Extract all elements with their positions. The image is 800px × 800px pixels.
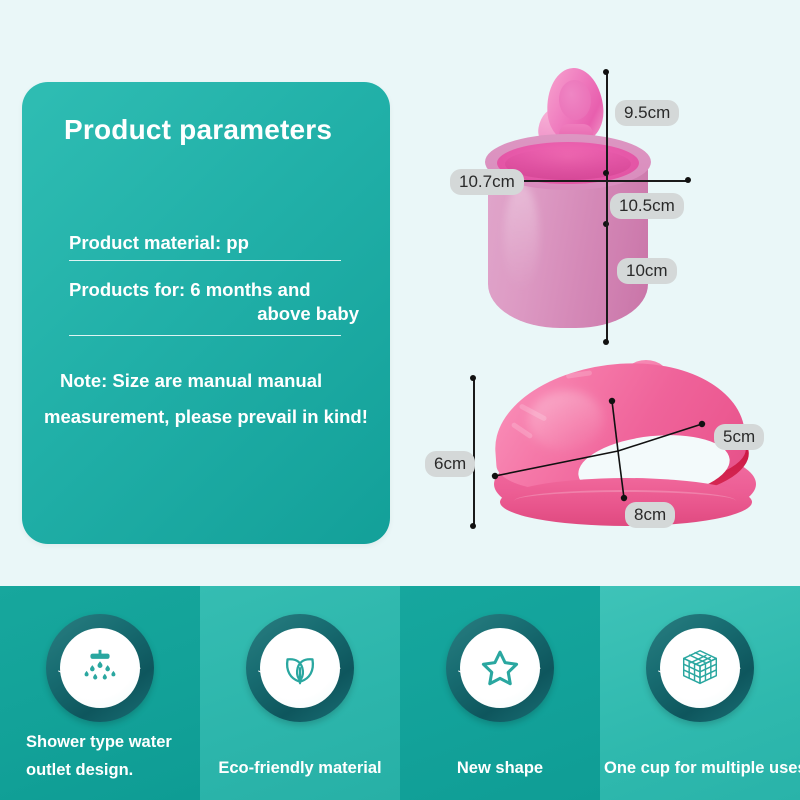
- dimension-label-cap-height: 6cm: [425, 451, 475, 477]
- badge-baby-health-protection: BABY HEALTH PROTECTION: [646, 614, 754, 722]
- feature-caption-line: One cup for multiple uses: [604, 754, 796, 782]
- measure-line-rim-diameter: [519, 180, 688, 182]
- measure-dot: [603, 69, 609, 75]
- feature-caption-line: New shape: [404, 754, 596, 782]
- leaf-icon: [277, 645, 323, 691]
- rubiks-cube-icon: [677, 645, 723, 691]
- badge-inner-disc: [60, 628, 140, 708]
- dimension-label-handle-height: 9.5cm: [615, 100, 679, 126]
- feature-caption-multiuse: One cup for multiple uses: [600, 754, 800, 782]
- cup-interior-shadow: [505, 148, 631, 180]
- measure-line-handle-height: [606, 72, 608, 174]
- badge-inner-disc: [460, 628, 540, 708]
- feature-panel-shower[interactable]: BABY HEALTH PROTECTION: [0, 586, 200, 800]
- feature-panel-shape[interactable]: BABY HEALTH PROTECTION New shape: [400, 586, 600, 800]
- measure-dot: [603, 339, 609, 345]
- infographic-canvas: Product parameters Product material: pp …: [0, 0, 800, 800]
- measure-dot: [685, 177, 691, 183]
- param-material-text: Product material: pp: [69, 232, 249, 254]
- feature-caption-shower: Shower type water outlet design.: [0, 728, 200, 784]
- dimension-label-cap-depth: 5cm: [714, 424, 764, 450]
- shower-head-icon: [77, 645, 123, 691]
- dimension-label-inner-diameter: 10.5cm: [610, 193, 684, 219]
- param-note-text: Note: Size are manual manual measurement…: [44, 363, 384, 435]
- feature-caption-shape: New shape: [400, 754, 600, 782]
- page-title: Product parameters: [64, 114, 332, 146]
- dimension-label-body-height: 10cm: [617, 258, 677, 284]
- feature-caption-line: Eco-friendly material: [204, 754, 396, 782]
- feature-band: BABY HEALTH PROTECTION: [0, 586, 800, 800]
- feature-panel-eco[interactable]: BABY HEALTH PROTECTION Eco-friendly mate…: [200, 586, 400, 800]
- measure-line-body-height: [606, 221, 608, 342]
- param-note-line-1: Note: Size are manual manual: [44, 363, 384, 399]
- feature-caption-line: outlet design.: [26, 756, 196, 784]
- feature-panel-multiuse[interactable]: BABY HEALTH PROTECTION: [600, 586, 800, 800]
- param-note-line-2: measurement, please prevail in kind!: [44, 399, 384, 435]
- badge-inner-disc: [260, 628, 340, 708]
- badge-baby-health-protection: BABY HEALTH PROTECTION: [446, 614, 554, 722]
- badge-baby-health-protection: BABY HEALTH PROTECTION: [46, 614, 154, 722]
- measure-lines-cap-opening: [470, 358, 730, 548]
- param-audience-text: Products for: 6 months and above baby: [69, 278, 359, 325]
- param-audience-line-2: above baby: [69, 302, 359, 326]
- dimension-label-rim-diameter: 10.7cm: [450, 169, 524, 195]
- dimension-label-cap-width: 8cm: [625, 502, 675, 528]
- feature-caption-line: Shower type water: [26, 728, 196, 756]
- feature-caption-eco: Eco-friendly material: [200, 754, 400, 782]
- param-audience-line-1: Products for: 6 months and: [69, 278, 359, 302]
- product-parameters-card: Product parameters Product material: pp …: [22, 82, 390, 544]
- product-image-cup: [455, 62, 755, 352]
- star-icon: [477, 645, 523, 691]
- badge-baby-health-protection: BABY HEALTH PROTECTION: [246, 614, 354, 722]
- badge-inner-disc: [660, 628, 740, 708]
- divider-2: [69, 335, 341, 336]
- divider-1: [69, 260, 341, 261]
